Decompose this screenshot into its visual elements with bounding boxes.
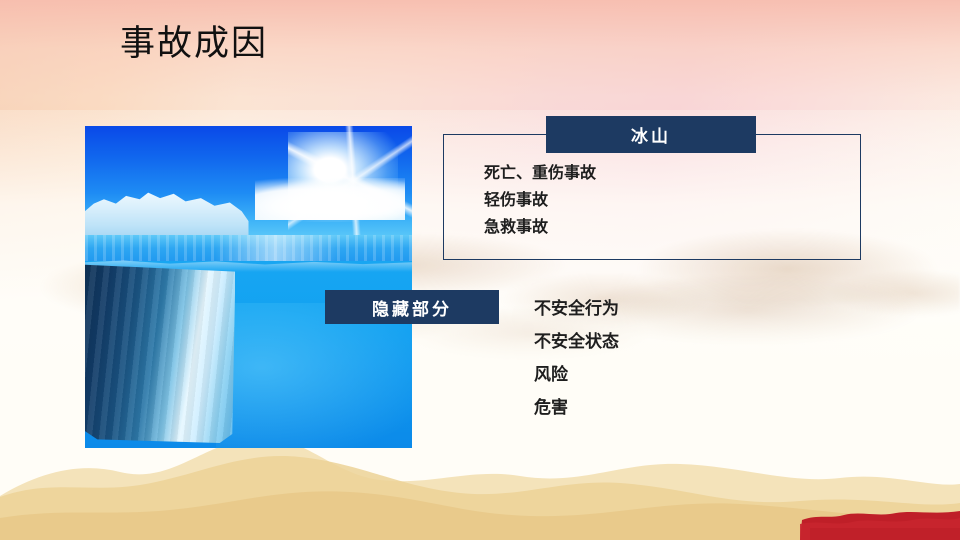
photo-sea-glint [85,235,412,264]
list-item: 轻伤事故 [484,187,596,214]
list-item: 不安全状态 [534,325,619,358]
iceberg-photo [85,126,412,448]
list-item: 急救事故 [484,214,596,241]
list-item: 不安全行为 [534,292,619,325]
hidden-part-item-list: 不安全行为 不安全状态 风险 危害 [534,292,619,424]
photo-underwater-glow [216,303,412,448]
tag-hidden-part[interactable]: 隐藏部分 [325,290,499,324]
slide-canvas: 事故成因 冰山 死亡、重伤事故 轻伤事故 急救事故 隐藏部分 不安全行为 不安全… [0,0,960,540]
page-title: 事故成因 [120,22,268,66]
list-item: 危害 [534,391,619,424]
list-item: 风险 [534,358,619,391]
tag-iceberg[interactable]: 冰山 [546,116,756,153]
photo-cloud [255,178,405,220]
iceberg-item-list: 死亡、重伤事故 轻伤事故 急救事故 [484,160,596,241]
list-item: 死亡、重伤事故 [484,160,596,187]
red-brush-stroke [800,506,960,540]
photo-iceberg-texture [85,264,235,444]
